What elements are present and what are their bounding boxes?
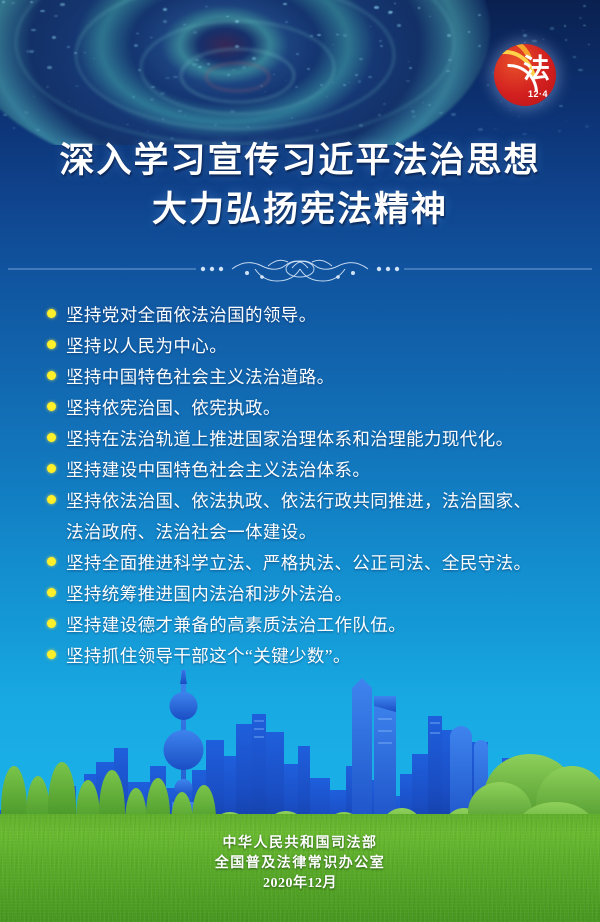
bullet-dot-icon xyxy=(47,464,56,473)
emblem-date-label: 12·4 xyxy=(528,89,548,99)
slogan-list-item: 坚持建设中国特色社会主义法治体系。 xyxy=(0,455,600,486)
bullet-dot-icon xyxy=(47,557,56,566)
slogan-list-item-text: 坚持党对全面依法治国的领导。 xyxy=(66,300,570,331)
slogan-list-item: 坚持党对全面依法治国的领导。 xyxy=(0,300,600,331)
bullet-dot-icon xyxy=(47,650,56,659)
footer-organization-ministry: 中华人民共和国司法部 xyxy=(0,834,600,854)
bullet-dot-icon xyxy=(47,371,56,380)
slogan-list-item: 坚持在法治轨道上推进国家治理体系和治理能力现代化。 xyxy=(0,424,600,455)
slogan-list-item: 坚持统筹推进国内法治和涉外法治。 xyxy=(0,579,600,610)
slogan-list: 坚持党对全面依法治国的领导。坚持以人民为中心。坚持中国特色社会主义法治道路。坚持… xyxy=(0,300,600,672)
bullet-dot-icon xyxy=(47,309,56,318)
footer-organization-office: 全国普及法律常识办公室 xyxy=(0,854,600,874)
bullet-dot-icon xyxy=(47,433,56,442)
slogan-list-item-text: 坚持统筹推进国内法治和涉外法治。 xyxy=(66,579,570,610)
poster-footer: 中华人民共和国司法部 全国普及法律常识办公室 2020年12月 xyxy=(0,834,600,894)
ornamental-flourish-divider xyxy=(0,252,600,286)
bullet-dot-icon xyxy=(47,495,56,504)
slogan-list-item: 坚持以人民为中心。 xyxy=(0,331,600,362)
slogan-list-item-text: 坚持在法治轨道上推进国家治理体系和治理能力现代化。 xyxy=(66,424,570,455)
slogan-list-item-text: 坚持建设中国特色社会主义法治体系。 xyxy=(66,455,570,486)
propaganda-poster: 法 12·4 深入学习宣传习近平法治思想 大力弘扬宪法精神 xyxy=(0,0,600,922)
slogan-list-item: 坚持中国特色社会主义法治道路。 xyxy=(0,362,600,393)
emblem-character: 法 xyxy=(523,56,550,83)
slogan-list-item-text: 坚持以人民为中心。 xyxy=(66,331,570,362)
slogan-list-item: 坚持依法治国、依法执政、依法行政共同推进，法治国家、 法治政府、法治社会一体建设… xyxy=(0,486,600,548)
title-line-1: 深入学习宣传习近平法治思想 xyxy=(0,136,600,185)
slogan-list-item: 坚持建设德才兼备的高素质法治工作队伍。 xyxy=(0,610,600,641)
title-line-2: 大力弘扬宪法精神 xyxy=(0,185,600,234)
poster-title: 深入学习宣传习近平法治思想 大力弘扬宪法精神 xyxy=(0,136,600,234)
bullet-dot-icon xyxy=(47,402,56,411)
bullet-dot-icon xyxy=(47,619,56,628)
slogan-list-item-text: 坚持全面推进科学立法、严格执法、公正司法、全民守法。 xyxy=(66,548,570,579)
bullet-dot-icon xyxy=(47,588,56,597)
constitution-day-emblem-icon: 法 12·4 xyxy=(494,44,556,106)
slogan-list-item-text: 坚持依宪治国、依宪执政。 xyxy=(66,393,570,424)
bullet-dot-icon xyxy=(47,340,56,349)
footer-date: 2020年12月 xyxy=(0,874,600,894)
slogan-list-item: 坚持依宪治国、依宪执政。 xyxy=(0,393,600,424)
slogan-list-item: 坚持全面推进科学立法、严格执法、公正司法、全民守法。 xyxy=(0,548,600,579)
slogan-list-item-text: 坚持建设德才兼备的高素质法治工作队伍。 xyxy=(66,610,570,641)
slogan-list-item-text: 坚持依法治国、依法执政、依法行政共同推进，法治国家、 法治政府、法治社会一体建设… xyxy=(66,486,570,548)
slogan-list-item-text: 坚持中国特色社会主义法治道路。 xyxy=(66,362,570,393)
